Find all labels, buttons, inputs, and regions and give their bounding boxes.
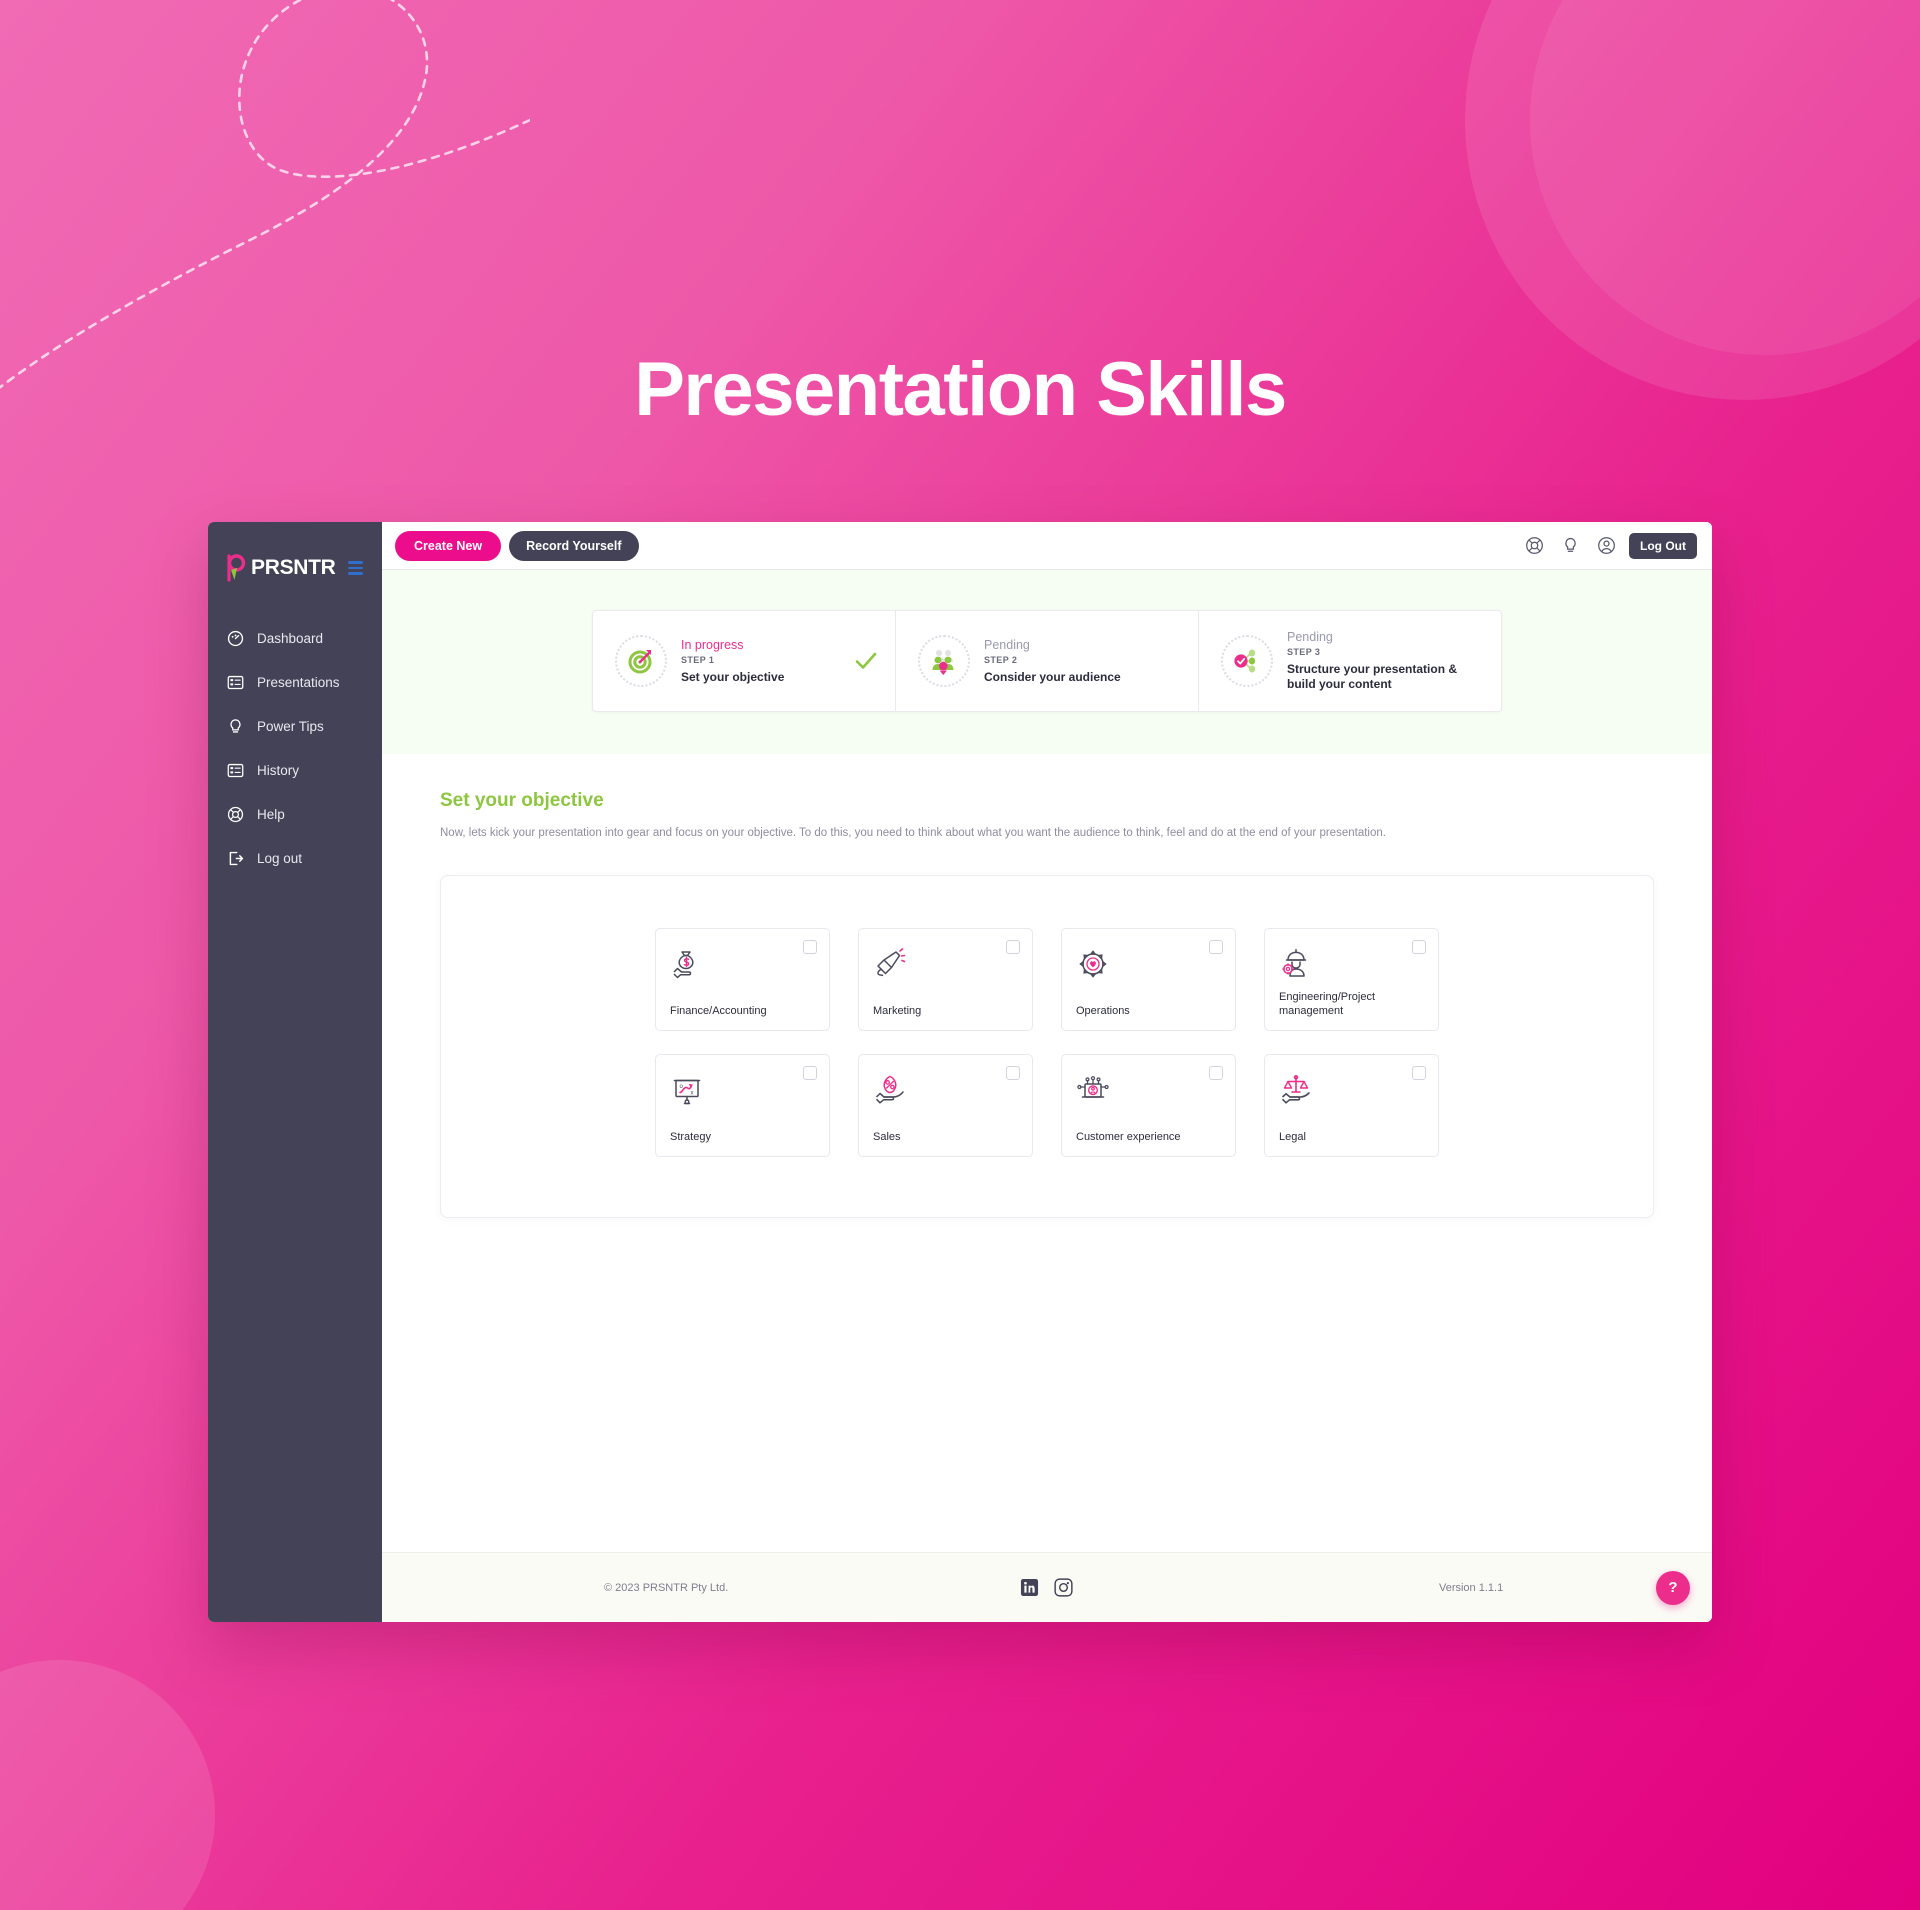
category-card-customer-experience[interactable]: Customer experience — [1061, 1054, 1236, 1157]
step-status: In progress — [681, 638, 839, 652]
step-title: Set your objective — [681, 670, 839, 685]
category-label: Legal — [1279, 1131, 1424, 1145]
category-checkbox[interactable] — [1412, 940, 1426, 954]
decor-dashed-swirl-icon — [0, 0, 530, 400]
sidebar-item-dashboard[interactable]: Dashboard — [208, 616, 382, 660]
page-title: Presentation Skills — [0, 352, 1920, 428]
instagram-icon[interactable] — [1054, 1578, 1073, 1597]
prsntr-logo-icon — [225, 554, 247, 582]
strategy-board-icon: o x — [670, 1073, 704, 1107]
structure-nodes-icon — [1231, 645, 1263, 677]
life-ring-icon[interactable] — [1525, 536, 1544, 555]
record-yourself-button[interactable]: Record Yourself — [509, 531, 638, 561]
sidebar-item-label: Presentations — [257, 675, 340, 690]
category-card-strategy[interactable]: o x Strategy — [655, 1054, 830, 1157]
main-area: Create New Record Yourself Log Out — [382, 522, 1712, 1622]
category-checkbox[interactable] — [803, 1066, 817, 1080]
step-number: STEP 1 — [681, 655, 839, 665]
content-area: Set your objective Now, lets kick your p… — [382, 754, 1712, 1552]
target-dart-icon — [625, 645, 657, 677]
category-checkbox[interactable] — [1209, 1066, 1223, 1080]
sidebar-item-presentations[interactable]: Presentations — [208, 660, 382, 704]
category-checkbox[interactable] — [1209, 940, 1223, 954]
footer-copyright: © 2023 PRSNTR Pty Ltd. — [414, 1582, 832, 1594]
step-title: Consider your audience — [984, 670, 1182, 685]
category-label: Strategy — [670, 1131, 815, 1145]
sidebar-item-label: Power Tips — [257, 719, 324, 734]
svg-text:x: x — [691, 1091, 694, 1097]
category-label: Marketing — [873, 1005, 1018, 1019]
app-window: PRSNTR Dashboard Presentations Pow — [208, 522, 1712, 1622]
sidebar-item-label: Help — [257, 807, 285, 822]
category-checkbox[interactable] — [1006, 1066, 1020, 1080]
step-number: STEP 3 — [1287, 647, 1485, 657]
gear-heart-icon — [1076, 947, 1110, 981]
category-checkbox[interactable] — [1006, 940, 1020, 954]
list-box-icon — [227, 762, 244, 779]
category-card-engineering-project-management[interactable]: Engineering/Project management — [1264, 928, 1439, 1031]
footer-social-links — [832, 1578, 1262, 1597]
topbar-icon-group — [1525, 536, 1616, 555]
step-status: Pending — [984, 638, 1182, 652]
objective-panel: Finance/Accounting Marketing — [440, 875, 1654, 1218]
life-ring-icon — [227, 806, 244, 823]
percent-hand-icon — [873, 1073, 907, 1107]
step-status: Pending — [1287, 630, 1485, 644]
step-body: Pending STEP 2 Consider your audience — [984, 638, 1182, 685]
category-card-legal[interactable]: Legal — [1264, 1054, 1439, 1157]
logout-arrow-icon — [227, 850, 244, 867]
lightbulb-icon — [227, 718, 244, 735]
customer-screen-icon — [1076, 1073, 1110, 1107]
sidebar-item-power-tips[interactable]: Power Tips — [208, 704, 382, 748]
footer-version: Version 1.1.1 — [1262, 1582, 1680, 1594]
sidebar-logo[interactable]: PRSNTR — [208, 544, 382, 588]
sidebar-item-help[interactable]: Help — [208, 792, 382, 836]
money-bag-hand-icon — [670, 947, 704, 981]
sidebar: PRSNTR Dashboard Presentations Pow — [208, 522, 382, 1622]
user-account-icon[interactable] — [1597, 536, 1616, 555]
category-card-operations[interactable]: Operations — [1061, 928, 1236, 1031]
help-fab-button[interactable]: ? — [1656, 1571, 1690, 1605]
step-body: In progress STEP 1 Set your objective — [681, 638, 839, 685]
hamburger-menu-icon[interactable] — [348, 561, 363, 575]
section-title: Set your objective — [440, 790, 1654, 812]
audience-group-icon — [928, 645, 960, 677]
step-title: Structure your presentation & build your… — [1287, 662, 1485, 692]
step-badge — [1221, 635, 1273, 687]
sidebar-item-label: Dashboard — [257, 631, 323, 646]
section-description: Now, lets kick your presentation into ge… — [440, 825, 1654, 842]
category-label: Operations — [1076, 1005, 1221, 1019]
logout-button[interactable]: Log Out — [1629, 533, 1697, 559]
hardhat-worker-icon — [1279, 947, 1313, 981]
sidebar-item-history[interactable]: History — [208, 748, 382, 792]
step-card-3[interactable]: Pending STEP 3 Structure your presentati… — [1198, 611, 1501, 711]
steps-card: In progress STEP 1 Set your objective — [592, 610, 1502, 712]
step-body: Pending STEP 3 Structure your presentati… — [1287, 630, 1485, 692]
decor-circle-inner — [1530, 0, 1920, 355]
step-card-2[interactable]: Pending STEP 2 Consider your audience — [895, 611, 1198, 711]
megaphone-icon — [873, 947, 907, 981]
linkedin-icon[interactable] — [1020, 1578, 1039, 1597]
sidebar-item-log-out[interactable]: Log out — [208, 836, 382, 880]
step-number: STEP 2 — [984, 655, 1182, 665]
step-badge — [918, 635, 970, 687]
step-badge — [615, 635, 667, 687]
category-label: Customer experience — [1076, 1131, 1221, 1145]
decor-circle-outer — [1465, 0, 1920, 400]
step-card-1[interactable]: In progress STEP 1 Set your objective — [593, 611, 895, 711]
category-label: Sales — [873, 1131, 1018, 1145]
sidebar-logo-text: PRSNTR — [251, 556, 336, 580]
category-label: Engineering/Project management — [1279, 991, 1424, 1019]
sidebar-item-label: History — [257, 763, 299, 778]
list-box-icon — [227, 674, 244, 691]
category-grid: Finance/Accounting Marketing — [655, 928, 1439, 1157]
lightbulb-icon[interactable] — [1561, 536, 1580, 555]
category-label: Finance/Accounting — [670, 1005, 815, 1019]
category-checkbox[interactable] — [1412, 1066, 1426, 1080]
steps-band: In progress STEP 1 Set your objective — [382, 570, 1712, 754]
category-card-sales[interactable]: Sales — [858, 1054, 1033, 1157]
speedometer-icon — [227, 630, 244, 647]
decor-circle-bottom-left — [0, 1660, 215, 1910]
sidebar-item-label: Log out — [257, 851, 302, 866]
footer: © 2023 PRSNTR Pty Ltd. Version 1.1.1 ? — [382, 1552, 1712, 1622]
category-card-finance-accounting[interactable]: Finance/Accounting — [655, 928, 830, 1031]
sidebar-nav: Dashboard Presentations Power Tips Histo… — [208, 616, 382, 880]
category-checkbox[interactable] — [803, 940, 817, 954]
category-card-marketing[interactable]: Marketing — [858, 928, 1033, 1031]
topbar: Create New Record Yourself Log Out — [382, 522, 1712, 570]
create-new-button[interactable]: Create New — [395, 531, 501, 561]
scales-hand-icon — [1279, 1073, 1313, 1107]
check-icon — [853, 648, 879, 674]
